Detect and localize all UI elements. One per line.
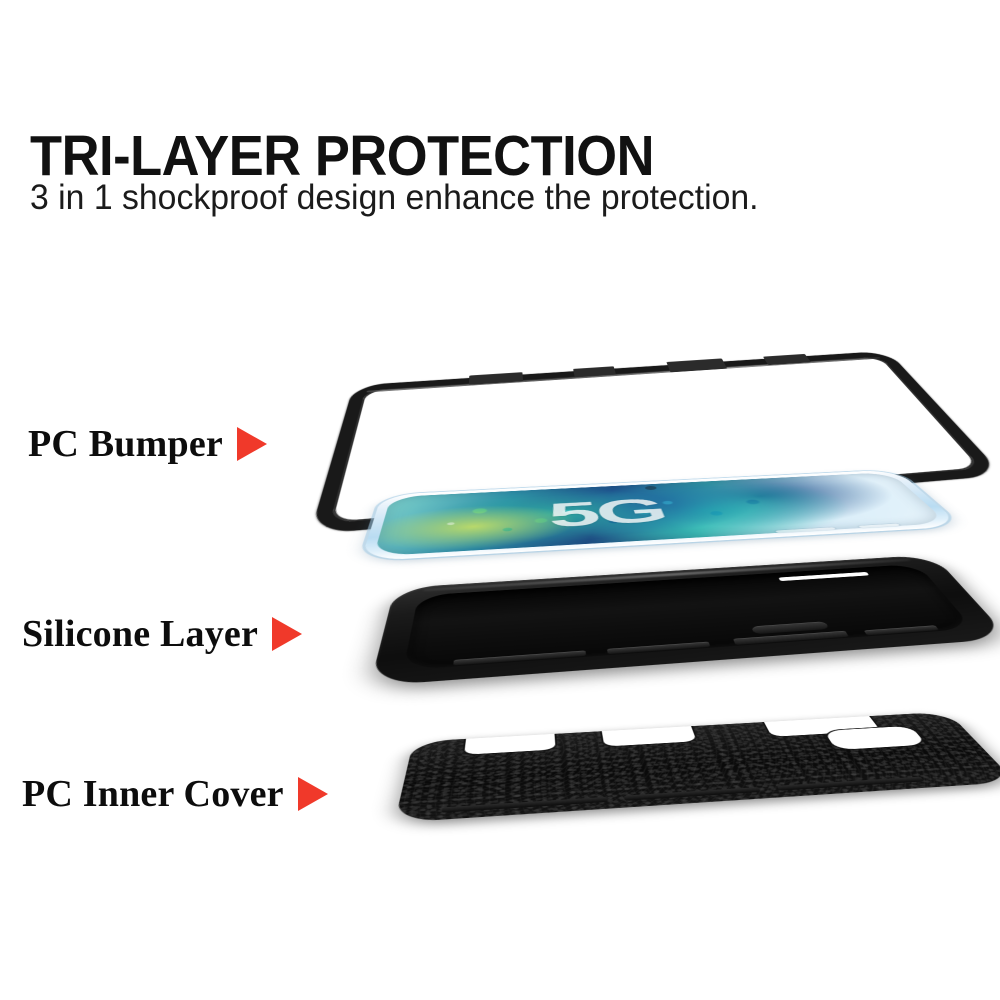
silicone-button-cutout [751,621,829,634]
inner-cutout [761,712,881,737]
label-row-pc-bumper: PC Bumper [28,422,267,466]
inner-plate [394,712,1000,823]
silicone-shell [370,555,1000,687]
arrow-right-icon [272,617,302,651]
bumper-tab [831,474,897,494]
label-silicone-layer: Silicone Layer [22,612,258,656]
silicone-rib [733,631,849,645]
product-infographic: TRI-LAYER PROTECTION 3 in 1 shockproof d… [0,0,1000,1000]
power-button [858,524,900,529]
inner-edge-rail [624,787,761,801]
silicone-rib [453,650,586,665]
label-pc-inner-cover: PC Inner Cover [22,772,284,816]
bumper-tab [763,354,811,365]
silicone-rib [864,625,939,635]
bumper-tab [503,499,584,527]
phone-body: 5G [360,469,962,561]
inner-plate-texture [394,712,1000,823]
page-subtitle: 3 in 1 shockproof design enhance the pro… [30,180,976,215]
phone-image: 5G [360,469,962,561]
silicone-port-cutout [778,572,869,581]
pc-bumper-frame-image [330,351,952,467]
front-camera-icon [644,486,657,490]
inner-edge-rail [777,777,924,791]
phone-screen: 5G [373,472,947,556]
page-title: TRI-LAYER PROTECTION [30,128,895,185]
inner-edge-rail [442,797,608,813]
bumper-tab [573,366,616,377]
wallpaper-texture [373,472,947,556]
volume-button [775,527,836,533]
silicone-layer-image [370,555,1000,687]
bumper-tab [623,491,682,511]
wallpaper-5g-label: 5G [546,497,669,530]
bumper-tab [469,372,523,385]
arrow-right-icon [237,427,267,461]
bumper-tab [666,358,727,372]
silicone-edge-highlight [423,558,911,591]
bumper-outline [310,351,1000,535]
silicone-rib [607,642,710,655]
inner-cutout [601,719,697,746]
bumper-tab [717,482,792,505]
silicone-cavity [403,564,973,670]
label-row-pc-inner-cover: PC Inner Cover [22,772,328,816]
pc-inner-cover-image [394,712,1000,823]
label-pc-bumper: PC Bumper [28,422,223,466]
label-row-silicone-layer: Silicone Layer [22,612,302,656]
arrow-right-icon [298,777,328,811]
inner-camera-cutout [824,726,927,750]
bumper-tab [390,510,458,533]
inner-cutout [464,728,555,755]
